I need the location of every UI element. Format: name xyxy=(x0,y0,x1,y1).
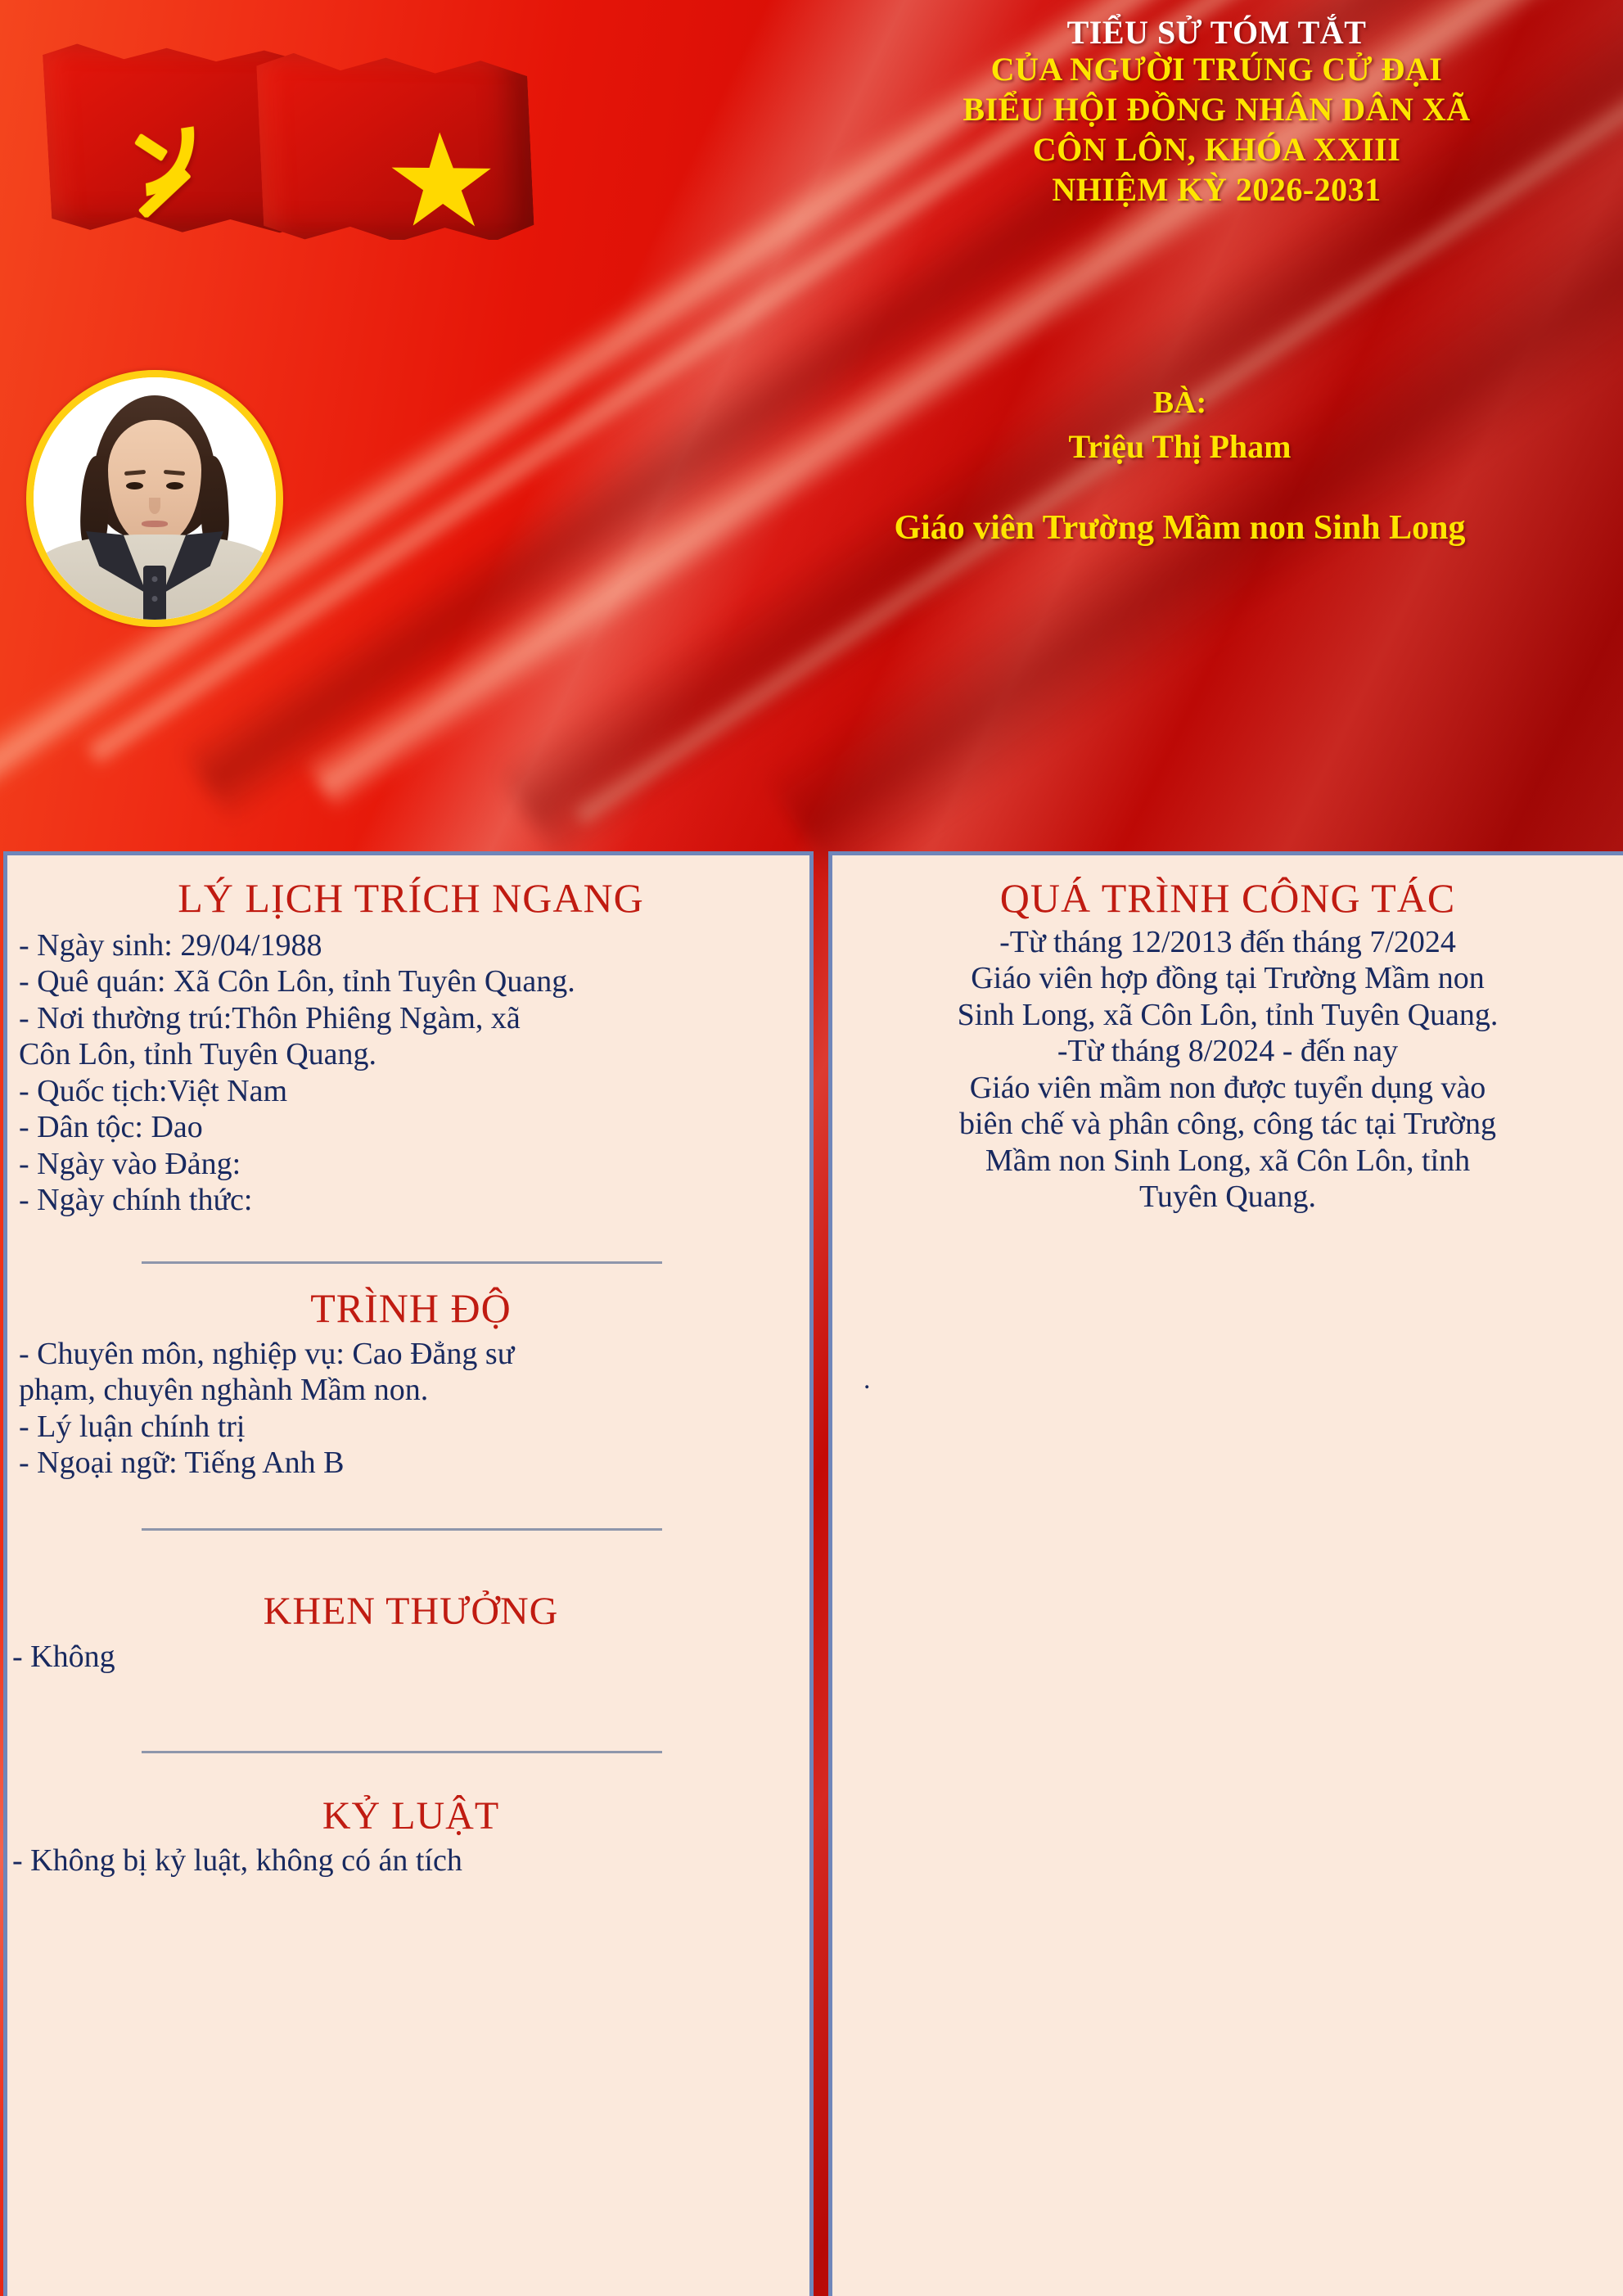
profile-line-3: - Nơi thường trú:Thôn Phiêng Ngàm, xã xyxy=(19,1000,803,1036)
section-awards-lines: - Không xyxy=(19,1639,803,1675)
section-title-career: QUÁ TRÌNH CÔNG TÁC xyxy=(850,875,1605,921)
portrait-face xyxy=(108,420,201,544)
header-title-block: TIỂU SỬ TÓM TẮT CỦA NGƯỜI TRÚNG CỬ ĐẠI B… xyxy=(810,15,1623,210)
education-line-1: - Chuyên môn, nghiệp vụ: Cao Đẳng sư xyxy=(19,1336,803,1372)
section-title-profile: LÝ LỊCH TRÍCH NGANG xyxy=(19,875,803,921)
candidate-name: Triệu Thị Pham xyxy=(737,422,1623,471)
portrait-nose xyxy=(149,498,160,514)
profile-line-5: - Quốc tịch:Việt Nam xyxy=(19,1073,803,1109)
career-line-1: -Từ tháng 12/2013 đến tháng 7/2024 xyxy=(850,924,1605,960)
career-line-4: -Từ tháng 8/2024 - đến nay xyxy=(850,1033,1605,1069)
portrait-button-bottom xyxy=(152,596,158,602)
section-title-awards: KHEN THƯỞNG xyxy=(19,1590,803,1634)
yellow-star-icon xyxy=(389,132,495,234)
right-content-panel: QUÁ TRÌNH CÔNG TÁC -Từ tháng 12/2013 đến… xyxy=(828,851,1623,2296)
portrait-mouth xyxy=(142,521,168,527)
section-profile-lines: - Ngày sinh: 29/04/1988 - Quê quán: Xã C… xyxy=(19,927,803,1219)
profile-line-4: Côn Lôn, tỉnh Tuyên Quang. xyxy=(19,1036,803,1072)
portrait-photo xyxy=(34,377,276,620)
hammer-sickle-icon xyxy=(110,111,222,218)
divider-after-profile xyxy=(142,1261,662,1264)
career-stray-mark: . xyxy=(850,1366,1605,1394)
awards-line-1: - Không xyxy=(12,1639,803,1675)
candidate-honorific: BÀ: xyxy=(737,385,1623,422)
education-line-4: - Ngoại ngữ: Tiếng Anh B xyxy=(19,1445,803,1481)
profile-line-7: - Ngày vào Đảng: xyxy=(19,1146,803,1182)
education-line-2: phạm, chuyên nghành Mầm non. xyxy=(19,1372,803,1408)
profile-line-2: - Quê quán: Xã Côn Lôn, tỉnh Tuyên Quang… xyxy=(19,963,803,999)
portrait-button-top xyxy=(152,576,158,582)
portrait-placket xyxy=(143,566,166,623)
profile-line-1: - Ngày sinh: 29/04/1988 xyxy=(19,927,803,963)
education-line-3: - Lý luận chính trị xyxy=(19,1409,803,1445)
poster-title-line-1: CỦA NGƯỜI TRÚNG CỬ ĐẠI xyxy=(810,50,1623,90)
poster-title-line-3: CÔN LÔN, KHÓA XXIII xyxy=(810,130,1623,170)
divider-after-awards xyxy=(142,1751,662,1753)
divider-after-education xyxy=(142,1528,662,1531)
portrait-brow-left xyxy=(124,470,146,476)
candidate-identity-block: BÀ: Triệu Thị Pham Giáo viên Trường Mầm … xyxy=(737,385,1623,548)
career-line-3: Sinh Long, xã Côn Lôn, tỉnh Tuyên Quang. xyxy=(850,997,1605,1033)
career-line-5: Giáo viên mầm non được tuyển dụng vào xyxy=(850,1070,1605,1106)
profile-line-8: - Ngày chính thức: xyxy=(19,1182,803,1218)
candidate-portrait xyxy=(26,370,283,627)
section-title-education: TRÌNH ĐỘ xyxy=(19,1285,803,1331)
poster-title-line-4: NHIỆM KỲ 2026-2031 xyxy=(810,170,1623,210)
career-line-7: Mầm non Sinh Long, xã Côn Lôn, tỉnh xyxy=(850,1143,1605,1179)
vietnam-national-flag xyxy=(256,52,535,240)
portrait-eye-left xyxy=(126,482,143,489)
left-panel-inner: LÝ LỊCH TRÍCH NGANG - Ngày sinh: 29/04/1… xyxy=(7,855,809,1879)
profile-line-6: - Dân tộc: Dao xyxy=(19,1109,803,1145)
poster-title-main: TIỂU SỬ TÓM TẮT xyxy=(810,15,1623,50)
left-content-panel: LÝ LỊCH TRÍCH NGANG - Ngày sinh: 29/04/1… xyxy=(3,851,814,2296)
section-title-discipline: KỶ LUẬT xyxy=(19,1794,803,1838)
poster-title-line-2: BIỂU HỘI ĐỒNG NHÂN DÂN XÃ xyxy=(810,90,1623,130)
candidate-role: Giáo viên Trường Mầm non Sinh Long xyxy=(737,507,1623,548)
career-line-2: Giáo viên hợp đồng tại Trường Mầm non xyxy=(850,960,1605,996)
portrait-eye-right xyxy=(166,482,183,489)
discipline-line-1: - Không bị kỷ luật, không có án tích xyxy=(12,1843,803,1879)
poster-root: TIỂU SỬ TÓM TẮT CỦA NGƯỜI TRÚNG CỬ ĐẠI B… xyxy=(0,0,1623,2296)
section-discipline-lines: - Không bị kỷ luật, không có án tích xyxy=(19,1843,803,1879)
right-panel-inner: QUÁ TRÌNH CÔNG TÁC -Từ tháng 12/2013 đến… xyxy=(832,855,1623,1394)
career-line-8: Tuyên Quang. xyxy=(850,1179,1605,1215)
flags-group xyxy=(15,23,563,240)
section-career-lines: -Từ tháng 12/2013 đến tháng 7/2024 Giáo … xyxy=(850,924,1605,1216)
portrait-brow-right xyxy=(164,470,185,476)
section-education-lines: - Chuyên môn, nghiệp vụ: Cao Đẳng sư phạ… xyxy=(19,1336,803,1482)
career-line-6: biên chế và phân công, công tác tại Trườ… xyxy=(850,1106,1605,1142)
